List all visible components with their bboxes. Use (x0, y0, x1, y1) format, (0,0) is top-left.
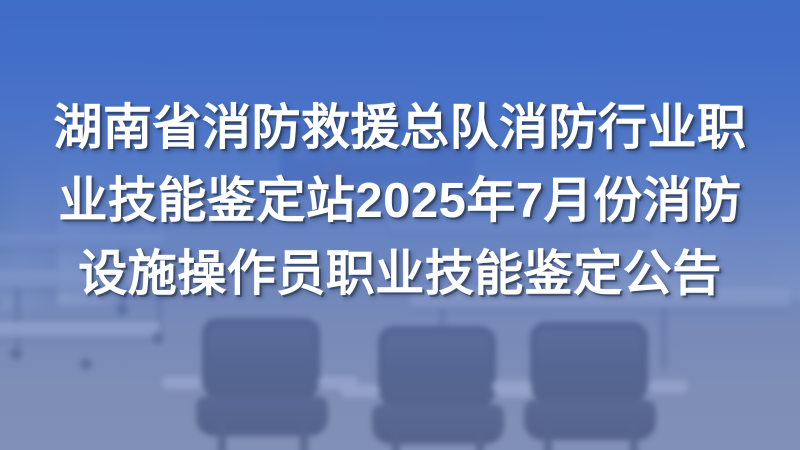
announcement-poster: 湖南省消防救援总队消防行业职 业技能鉴定站2025年7月份消防 设施操作员职业技… (0, 0, 800, 450)
title-line-3: 设施操作员职业技能鉴定公告 (78, 238, 722, 311)
title-line-2: 业技能鉴定站2025年7月份消防 (58, 165, 741, 238)
title-line-1: 湖南省消防救援总队消防行业职 (53, 92, 746, 165)
poster-title: 湖南省消防救援总队消防行业职 业技能鉴定站2025年7月份消防 设施操作员职业技… (0, 92, 800, 311)
